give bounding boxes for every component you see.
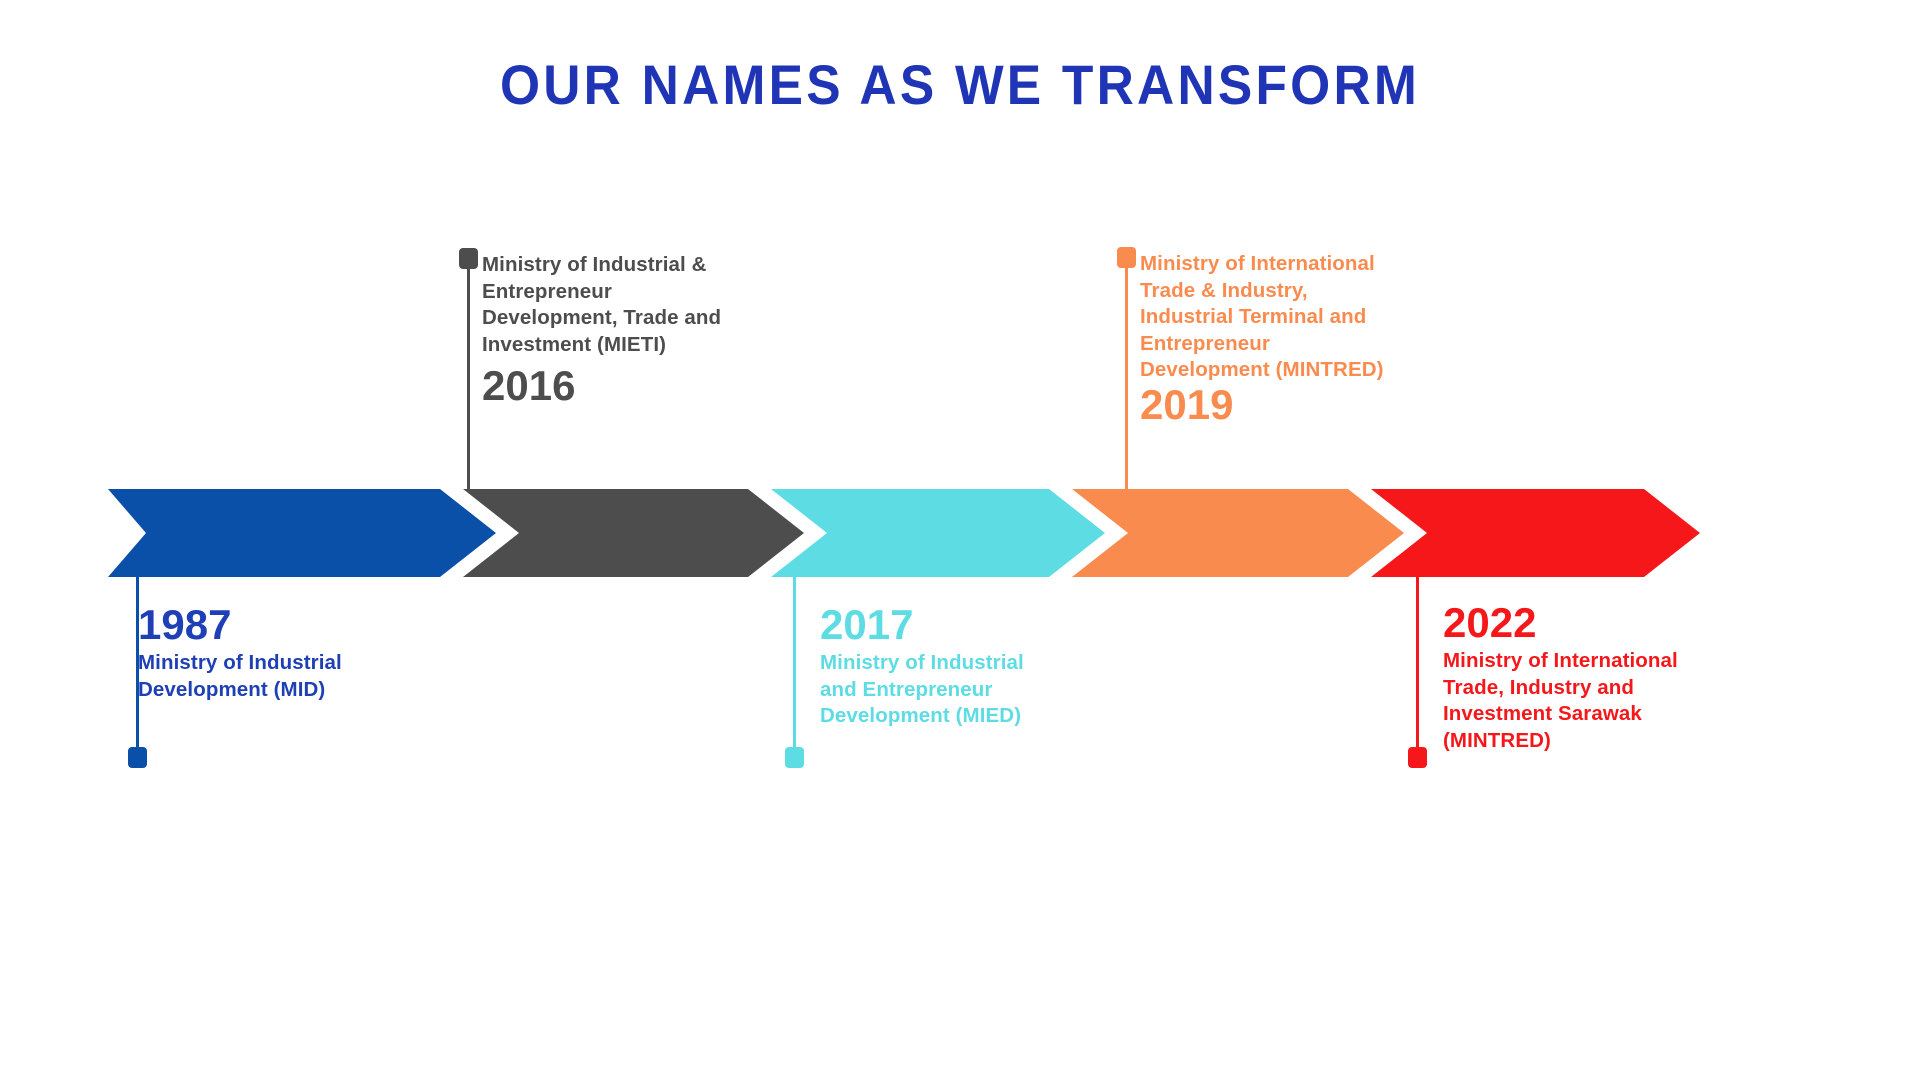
stem-2017: [785, 577, 807, 769]
stem-line-2017: [793, 577, 796, 752]
entry-2022-name: Ministry of International Trade, Industr…: [1443, 648, 1753, 754]
entry-2017-name: Ministry of Industrial and Entrepreneur …: [820, 650, 1120, 730]
stem-2016: [459, 248, 481, 489]
stem-line-2016: [467, 266, 470, 489]
timeline-bar: [0, 0, 1920, 1080]
timeline-segment-1987[interactable]: [108, 489, 496, 577]
stem-cap-2017: [785, 747, 804, 768]
entry-2016-year: 2016: [482, 363, 782, 408]
entry-2017: 2017 Ministry of Industrial and Entrepre…: [820, 600, 1120, 730]
timeline-segment-2022[interactable]: [1371, 489, 1700, 577]
stem-line-2022: [1416, 577, 1419, 752]
entry-1987: 1987 Ministry of Industrial Development …: [138, 600, 438, 703]
entry-2017-year: 2017: [820, 600, 1120, 649]
stem-cap-2022: [1408, 747, 1427, 768]
timeline-segment-2019[interactable]: [1072, 489, 1404, 577]
timeline-segment-2016[interactable]: [463, 489, 804, 577]
entry-2019-name: Ministry of International Trade & Indust…: [1140, 251, 1450, 384]
entry-2019: Ministry of International Trade & Indust…: [1140, 251, 1450, 427]
entry-2022-year: 2022: [1443, 598, 1753, 647]
entry-2019-year: 2019: [1140, 382, 1450, 427]
entry-2016: Ministry of Industrial & Entrepreneur De…: [482, 252, 782, 408]
page-title: OUR NAMES AS WE TRANSFORM: [77, 52, 1843, 117]
stem-2019: [1117, 247, 1139, 489]
stem-cap-1987: [128, 747, 147, 768]
infographic-canvas: OUR NAMES AS WE TRANSFORM Ministry of In…: [0, 0, 1920, 1080]
timeline-segment-2017[interactable]: [771, 489, 1105, 577]
stem-line-2019: [1125, 265, 1128, 489]
entry-2016-name: Ministry of Industrial & Entrepreneur De…: [482, 252, 782, 358]
entry-1987-name: Ministry of Industrial Development (MID): [138, 650, 438, 703]
entry-1987-year: 1987: [138, 600, 438, 649]
entry-2022: 2022 Ministry of International Trade, In…: [1443, 598, 1753, 754]
stem-2022: [1408, 577, 1430, 769]
